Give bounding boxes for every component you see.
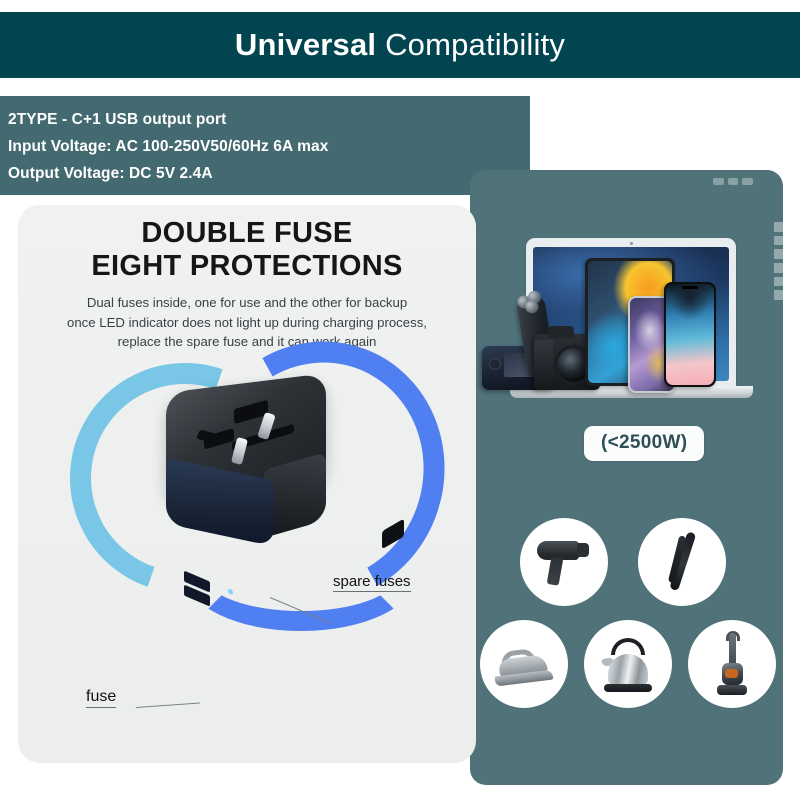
panel-edge-ticks-decoration — [774, 222, 783, 300]
max-wattage-text: (<2500W) — [601, 432, 687, 453]
compatible-devices-panel: (<2500W) — [470, 170, 783, 785]
max-wattage-badge: (<2500W) — [584, 426, 704, 461]
clothes-iron-icon — [495, 645, 553, 683]
card-title-line-2: EIGHT PROTECTIONS — [18, 250, 476, 283]
page-title: Universal Compatibility — [235, 27, 565, 63]
card-title: DOUBLE FUSE EIGHT PROTECTIONS — [18, 205, 476, 283]
appliance-circle-hair-straightener — [638, 518, 726, 606]
camera-grip — [534, 340, 553, 390]
card-subtitle-line-2: once LED indicator does not light up dur… — [18, 313, 476, 333]
device-montage — [488, 238, 765, 420]
shaver-heads — [516, 290, 544, 310]
appliance-circle-hair-dryer — [520, 518, 608, 606]
spare-fuses-callout-label: spare fuses — [333, 573, 411, 592]
page-title-bold: Universal — [235, 27, 376, 62]
spare-fuses-callout: spare fuses — [333, 573, 411, 592]
smartphone-black-icon — [664, 282, 716, 387]
appliance-circle-electric-kettle — [584, 620, 672, 708]
header-banner: Universal Compatibility — [0, 12, 800, 78]
card-title-line-1: DOUBLE FUSE — [18, 217, 476, 250]
panel-notch-decoration — [713, 178, 753, 185]
smartphone-notch — [682, 286, 698, 289]
adapter-artwork — [18, 353, 476, 598]
travel-adapter-product-image — [160, 383, 336, 545]
double-fuse-card: DOUBLE FUSE EIGHT PROTECTIONS Dual fuses… — [18, 205, 476, 743]
smartphone-black-screen — [666, 284, 714, 385]
card-subtitle: Dual fuses inside, one for use and the o… — [18, 293, 476, 352]
spec-line-input-voltage: Input Voltage: AC 100-250V50/60Hz 6A max — [8, 133, 530, 160]
fuse-callout: fuse — [86, 688, 116, 708]
laptop-camera-icon — [630, 242, 633, 245]
camera-viewfinder — [548, 326, 574, 338]
spec-line-output-port: 2TYPE - C+1 USB output port — [8, 106, 530, 133]
appliance-circle-clothes-iron — [480, 620, 568, 708]
card-subtitle-line-3: replace the spare fuse and it can work a… — [18, 332, 476, 352]
console-dpad — [489, 358, 501, 370]
hair-dryer-icon — [537, 537, 591, 587]
vacuum-cleaner-icon — [717, 633, 747, 695]
fuse-callout-label: fuse — [86, 688, 116, 708]
card-subtitle-line-1: Dual fuses inside, one for use and the o… — [18, 293, 476, 313]
hair-straightener-icon — [663, 529, 701, 594]
appliance-circles — [492, 518, 772, 728]
fuse-leader-line — [136, 703, 200, 709]
product-infographic: Universal Compatibility 2TYPE - C+1 USB … — [0, 0, 800, 800]
appliance-circle-vacuum-cleaner — [688, 620, 776, 708]
page-title-rest: Compatibility — [376, 27, 565, 62]
spec-line-output-voltage: Output Voltage: DC 5V 2.4A — [8, 160, 530, 187]
specifications-box: 2TYPE - C+1 USB output port Input Voltag… — [0, 96, 530, 195]
electric-kettle-icon — [602, 636, 654, 692]
